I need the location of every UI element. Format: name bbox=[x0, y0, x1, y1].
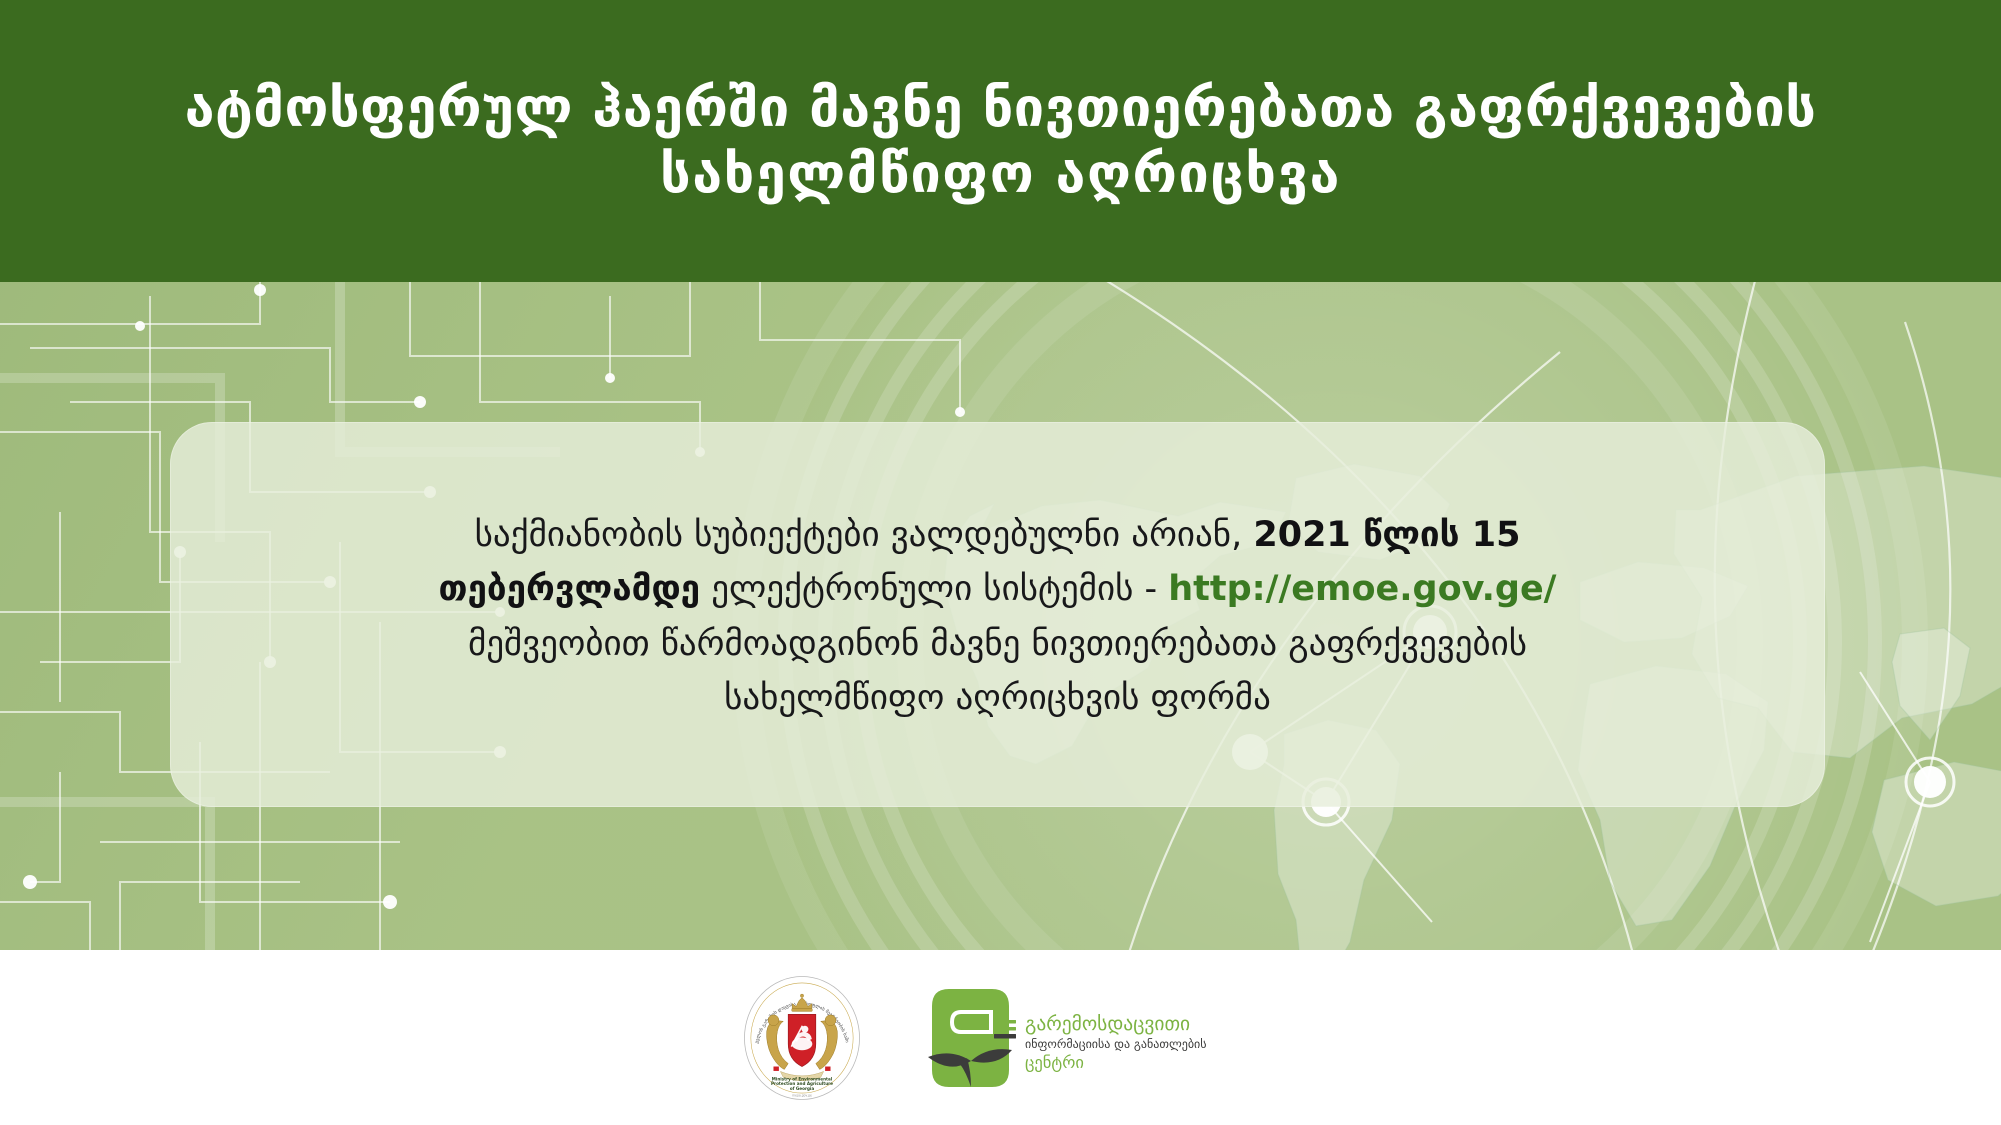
announcement-banner: საქმიანობის სუბიექტები ვალდებულნი არიან,… bbox=[0, 0, 2001, 1125]
page-title-line-2: სახელმწიფო აღრიცხვა bbox=[660, 141, 1341, 207]
card-line-1-text: საქმიანობის სუბიექტები ვალდებულნი არიან, bbox=[475, 515, 1254, 555]
ministry-seal-logo: საქართველოს გარემოს დაცვისა და სოფლის მე… bbox=[743, 975, 861, 1101]
svg-text:Protection and Agriculture: Protection and Agriculture bbox=[771, 1081, 833, 1086]
banner-stage: საქმიანობის სუბიექტები ვალდებულნი არიან,… bbox=[0, 282, 2001, 950]
page-title-line-1: ატმოსფერულ ჰაერში მავნე ნივთიერებათა გაფ… bbox=[185, 75, 1817, 141]
eiec-logo-line-1: გარემოსდაცვითი bbox=[1025, 1012, 1190, 1035]
eiec-logo-line-3: ცენტრი bbox=[1025, 1053, 1084, 1072]
card-line-1: საქმიანობის სუბიექტები ვალდებულნი არიან,… bbox=[475, 508, 1521, 562]
card-line-4: სახელმწიფო აღრიცხვის ფორმა bbox=[724, 671, 1271, 725]
card-line-2-text: ელექტრონული სისტემის - bbox=[700, 569, 1168, 609]
card-line-3: მეშვეობით წარმოადგინონ მავნე ნივთიერებათ… bbox=[468, 617, 1527, 671]
header-title-block: ატმოსფერულ ჰაერში მავნე ნივთიერებათა გაფ… bbox=[0, 0, 2001, 282]
emoe-portal-link[interactable]: http://emoe.gov.ge/ bbox=[1168, 569, 1556, 609]
eiec-logo: გარემოსდაცვითი ინფორმაციისა და განათლები… bbox=[919, 984, 1259, 1092]
announcement-card: საქმიანობის სუბიექტები ვალდებულნი არიან,… bbox=[170, 422, 1825, 807]
svg-text:mepa.gov.ge: mepa.gov.ge bbox=[792, 1093, 812, 1097]
card-line-1-deadline-date: 2021 წლის 15 bbox=[1253, 515, 1520, 555]
svg-text:of Georgia: of Georgia bbox=[789, 1086, 813, 1091]
card-line-2: თებერვლამდე ელექტრონული სისტემის - http:… bbox=[439, 562, 1557, 616]
header-band: ატმოსფერულ ჰაერში მავნე ნივთიერებათა გაფ… bbox=[0, 0, 2001, 282]
eiec-logo-line-2: ინფორმაციისა და განათლების bbox=[1025, 1037, 1207, 1051]
svg-text:Ministry of Environmental: Ministry of Environmental bbox=[771, 1076, 832, 1081]
footer-logo-bar: საქართველოს გარემოს დაცვისა და სოფლის მე… bbox=[0, 950, 2001, 1125]
card-line-2-deadline-month: თებერვლამდე bbox=[439, 569, 701, 609]
announcement-card-text: საქმიანობის სუბიექტები ვალდებულნი არიან,… bbox=[170, 422, 1825, 807]
